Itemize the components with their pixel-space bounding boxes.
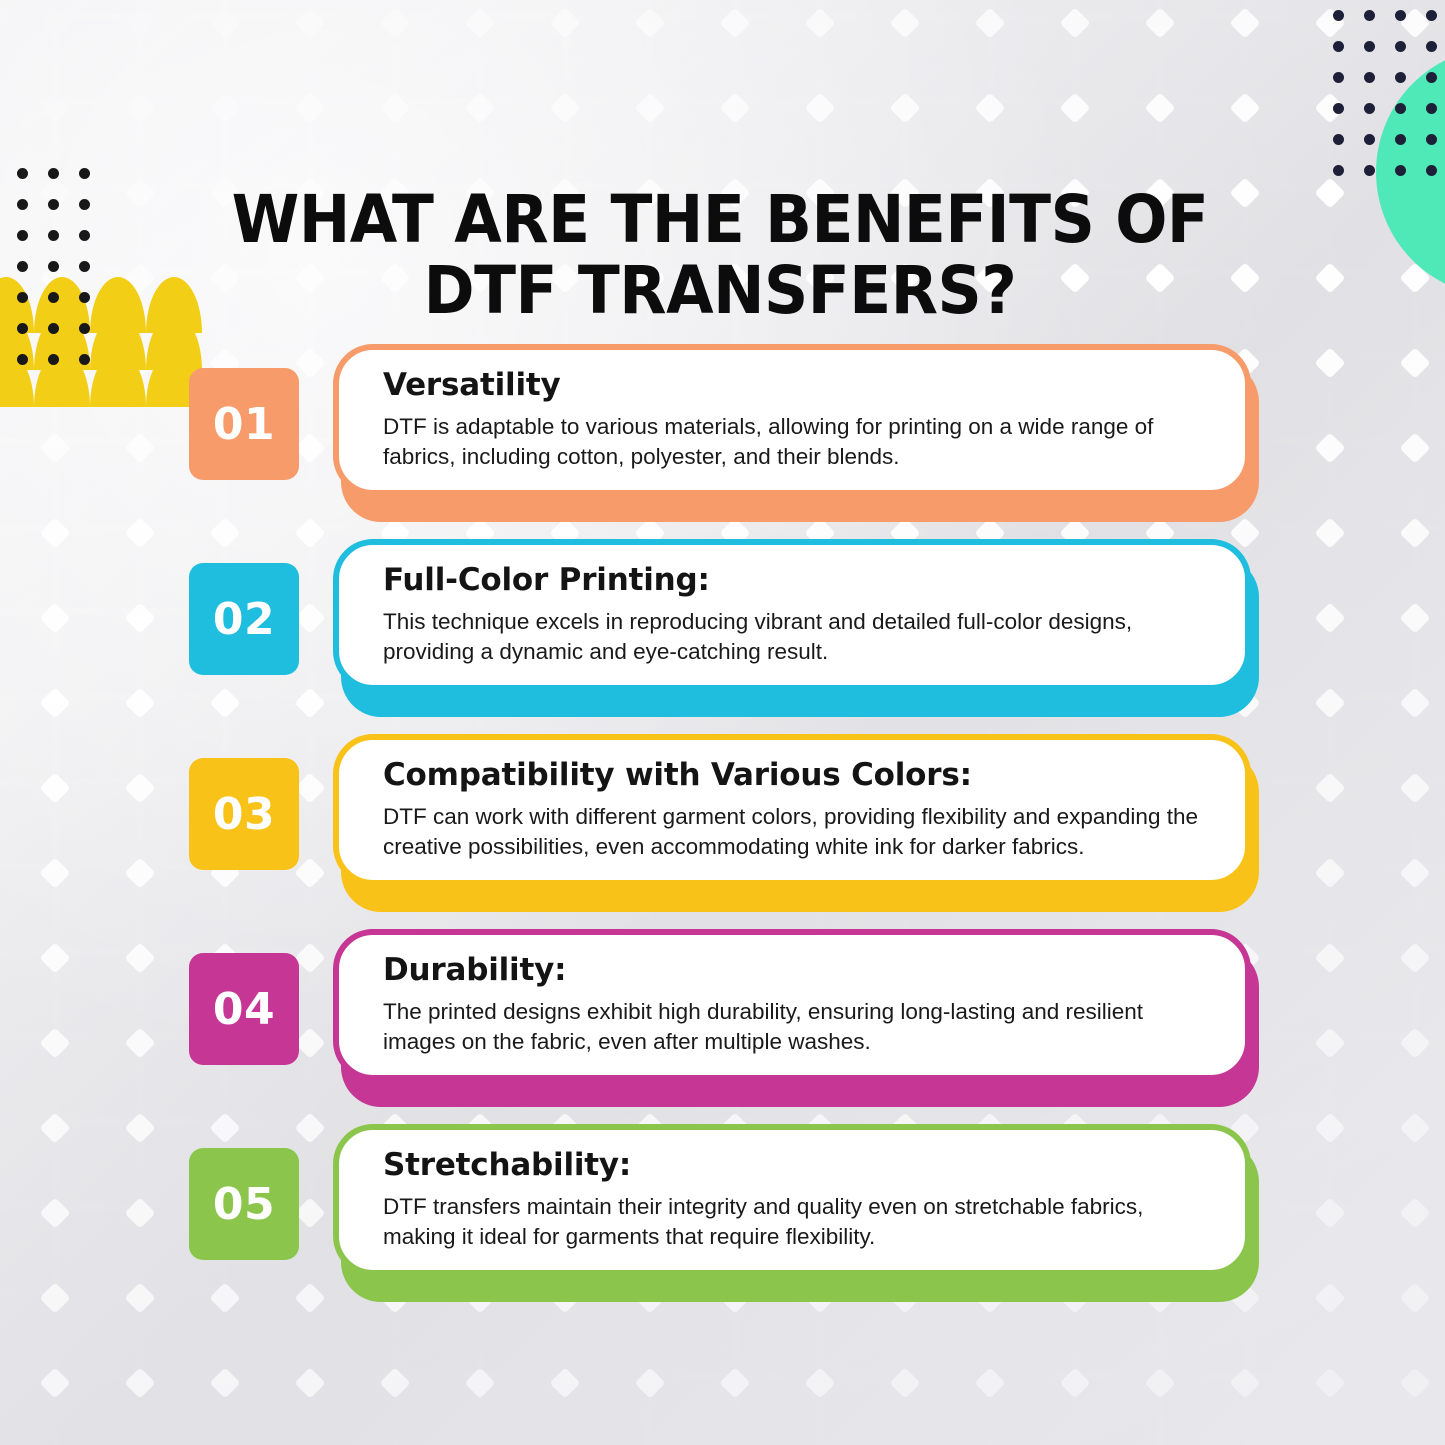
card-number-badge[interactable]: 04 — [189, 953, 299, 1065]
decorative-dot — [1364, 134, 1375, 145]
benefit-card-body: Stretchability:DTF transfers maintain th… — [333, 1124, 1251, 1276]
decorative-dot — [1364, 72, 1375, 83]
benefit-card-heading: Durability: — [383, 953, 1205, 987]
decorative-dot — [1395, 41, 1406, 52]
decorative-dot — [1426, 134, 1437, 145]
decorative-dot — [1333, 134, 1344, 145]
decorative-dot — [1395, 72, 1406, 83]
benefit-card-row: 02Full-Color Printing:This technique exc… — [0, 535, 1445, 730]
benefit-card-description: DTF can work with different garment colo… — [383, 802, 1205, 862]
decorative-dot — [1333, 165, 1344, 176]
decorative-dot — [1333, 103, 1344, 114]
decorative-dot — [1426, 41, 1437, 52]
benefit-card-description: The printed designs exhibit high durabil… — [383, 997, 1205, 1057]
benefit-card[interactable]: Stretchability:DTF transfers maintain th… — [333, 1124, 1251, 1296]
card-number-badge[interactable]: 01 — [189, 368, 299, 480]
decorative-dot — [1426, 103, 1437, 114]
benefit-card-description: DTF transfers maintain their integrity a… — [383, 1192, 1205, 1252]
decorative-dot — [1364, 10, 1375, 21]
benefit-card[interactable]: Durability:The printed designs exhibit h… — [333, 929, 1251, 1101]
benefit-card-body: Durability:The printed designs exhibit h… — [333, 929, 1251, 1081]
decorative-dot — [1364, 103, 1375, 114]
benefit-card[interactable]: Full-Color Printing:This technique excel… — [333, 539, 1251, 711]
decorative-dot — [1395, 103, 1406, 114]
benefit-card-heading: Versatility — [383, 368, 1205, 402]
benefit-card-description: DTF is adaptable to various materials, a… — [383, 412, 1205, 472]
benefit-card-list: 01VersatilityDTF is adaptable to various… — [0, 340, 1445, 1315]
decorative-dot — [1395, 10, 1406, 21]
benefit-card-row: 05Stretchability:DTF transfers maintain … — [0, 1120, 1445, 1315]
card-number-badge[interactable]: 02 — [189, 563, 299, 675]
infographic-canvas: WHAT ARE THE BENEFITS OF DTF TRANSFERS? … — [0, 0, 1445, 1445]
benefit-card-description: This technique excels in reproducing vib… — [383, 607, 1205, 667]
benefit-card-row: 03Compatibility with Various Colors:DTF … — [0, 730, 1445, 925]
decorative-dot — [1426, 72, 1437, 83]
decorative-dot — [1426, 10, 1437, 21]
decorative-dot — [1364, 41, 1375, 52]
benefit-card-row: 01VersatilityDTF is adaptable to various… — [0, 340, 1445, 535]
benefit-card[interactable]: Compatibility with Various Colors:DTF ca… — [333, 734, 1251, 906]
page-title: WHAT ARE THE BENEFITS OF DTF TRANSFERS? — [227, 184, 1213, 327]
benefit-card-body: Compatibility with Various Colors:DTF ca… — [333, 734, 1251, 886]
decorative-dot — [1333, 41, 1344, 52]
decorative-dot — [1395, 134, 1406, 145]
benefit-card-body: Full-Color Printing:This technique excel… — [333, 539, 1251, 691]
decorative-dot — [1333, 10, 1344, 21]
card-number-badge[interactable]: 05 — [189, 1148, 299, 1260]
benefit-card-heading: Full-Color Printing: — [383, 563, 1205, 597]
decorative-dot — [1395, 165, 1406, 176]
benefit-card-body: VersatilityDTF is adaptable to various m… — [333, 344, 1251, 496]
decorative-dot — [1333, 72, 1344, 83]
card-number-badge[interactable]: 03 — [189, 758, 299, 870]
decorative-dot — [1426, 165, 1437, 176]
benefit-card[interactable]: VersatilityDTF is adaptable to various m… — [333, 344, 1251, 516]
decorative-dot — [1364, 165, 1375, 176]
benefit-card-heading: Compatibility with Various Colors: — [383, 758, 1205, 792]
benefit-card-row: 04Durability:The printed designs exhibit… — [0, 925, 1445, 1120]
benefit-card-heading: Stretchability: — [383, 1148, 1205, 1182]
